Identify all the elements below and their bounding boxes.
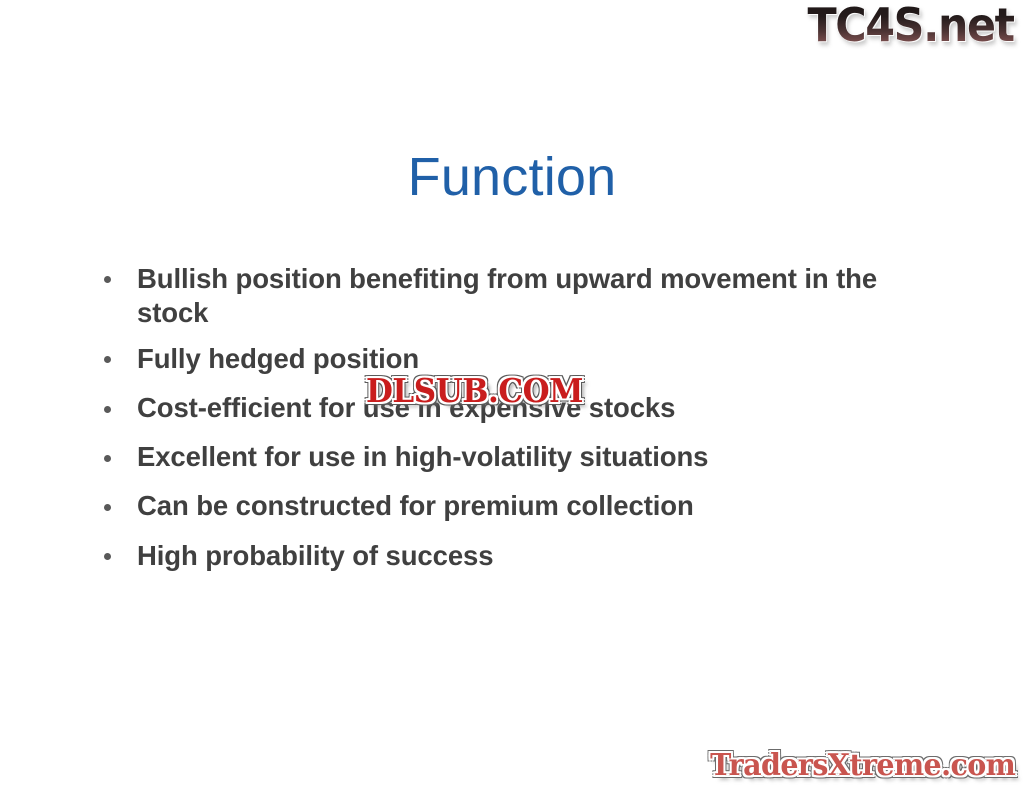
list-item-label: Fully hedged position — [137, 342, 930, 376]
tradersxtreme-watermark: TradersXtreme.com — [710, 748, 1015, 783]
list-item-label: Excellent for use in high-volatility sit… — [137, 440, 930, 474]
list-item: Bullish position benefiting from upward … — [95, 262, 930, 330]
bullet-dot-icon — [104, 553, 111, 560]
list-item: Excellent for use in high-volatility sit… — [95, 440, 930, 474]
list-item: Fully hedged position — [95, 342, 930, 376]
bullet-dot-icon — [104, 504, 111, 511]
list-item-label: High probability of success — [137, 539, 930, 573]
list-item: High probability of success — [95, 539, 930, 573]
list-item: Cost-efficient for use in expensive stoc… — [95, 391, 930, 425]
bullet-dot-icon — [104, 455, 111, 462]
page-title: Function — [0, 148, 1024, 206]
list-item-label: Can be constructed for premium collectio… — [137, 489, 930, 523]
bullet-dot-icon — [104, 406, 111, 413]
slide-canvas: TC4S.net Function Bullish position benef… — [0, 0, 1024, 791]
bullet-dot-icon — [104, 276, 111, 283]
tc4s-watermark: TC4S.net — [808, 0, 1014, 52]
bullet-list: Bullish position benefiting from upward … — [95, 262, 930, 588]
list-item-label: Cost-efficient for use in expensive stoc… — [137, 391, 930, 425]
bullet-dot-icon — [104, 356, 111, 363]
list-item: Can be constructed for premium collectio… — [95, 489, 930, 523]
list-item-label: Bullish position benefiting from upward … — [137, 262, 930, 330]
